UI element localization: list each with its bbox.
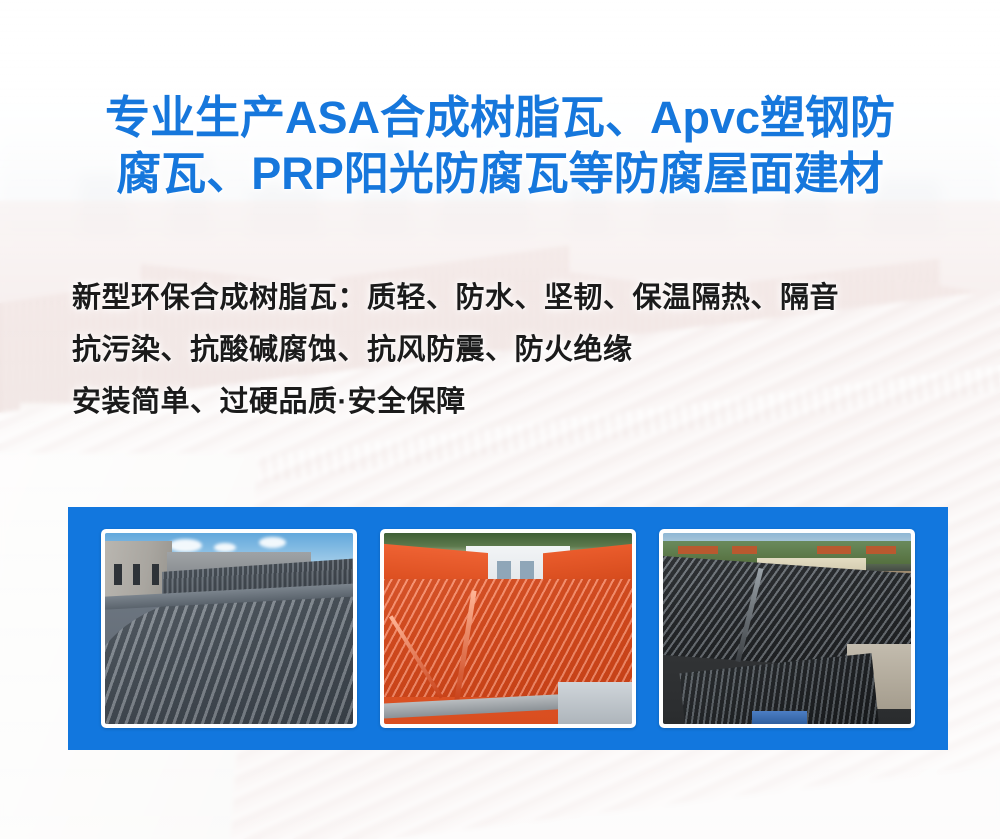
black-resin-tile-roof-photo[interactable] xyxy=(659,529,915,728)
banner-subtitle: 新型环保合成树脂瓦：质轻、防水、坚韧、保温隔热、隔音 抗污染、抗酸碱腐蚀、抗风防… xyxy=(72,272,972,428)
product-photo-gallery xyxy=(68,507,948,750)
headline-line-2: 腐瓦、PRP阳光防腐瓦等防腐屋面建材 xyxy=(0,146,1000,202)
grey-resin-tile-roof-photo[interactable] xyxy=(101,529,357,728)
subtitle-line-1: 新型环保合成树脂瓦：质轻、防水、坚韧、保温隔热、隔音 xyxy=(72,272,972,324)
headline-line-1: 专业生产ASA合成树脂瓦、Apvc塑钢防 xyxy=(0,90,1000,146)
product-banner: 专业生产ASA合成树脂瓦、Apvc塑钢防 腐瓦、PRP阳光防腐瓦等防腐屋面建材 … xyxy=(0,0,1000,839)
subtitle-line-3: 安装简单、过硬品质·安全保障 xyxy=(72,376,972,428)
subtitle-line-2: 抗污染、抗酸碱腐蚀、抗风防震、防火绝缘 xyxy=(72,324,972,376)
banner-headline: 专业生产ASA合成树脂瓦、Apvc塑钢防 腐瓦、PRP阳光防腐瓦等防腐屋面建材 xyxy=(0,90,1000,202)
red-resin-tile-roof-photo[interactable] xyxy=(380,529,636,728)
